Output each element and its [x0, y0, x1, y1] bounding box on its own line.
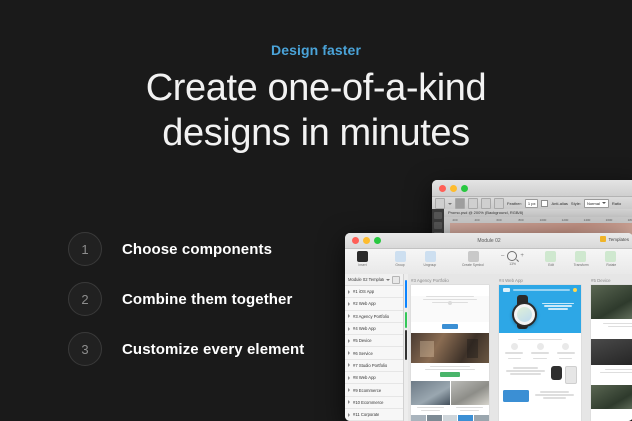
- artboard-photo: [591, 285, 632, 319]
- artboard-canvas[interactable]: [499, 285, 581, 421]
- layer-name: #7 Studio Portfolio: [353, 363, 387, 368]
- ungroup-label: Ungroup: [424, 263, 437, 267]
- text-line: [506, 370, 544, 371]
- group-label: Group: [395, 263, 404, 267]
- sketch-titlebar[interactable]: Module 02 Templates: [345, 233, 632, 249]
- artboard-4[interactable]: #4 Web App: [499, 278, 581, 421]
- subtract-selection-icon[interactable]: [481, 198, 491, 209]
- page-title: Create one-of-a-kind designs in minutes: [0, 66, 632, 156]
- strip-cell: [443, 415, 458, 421]
- artboard-hero: [499, 285, 581, 333]
- ruler-tick: 1800: [620, 218, 632, 222]
- text-line: [510, 373, 542, 374]
- ruler-tick: 1000: [532, 218, 554, 222]
- chevron-right-icon[interactable]: [348, 314, 350, 318]
- feature-column: [554, 343, 577, 361]
- edit-icon: [545, 251, 556, 262]
- sketch-window[interactable]: Module 02 Templates Insert Group: [345, 233, 632, 421]
- create-symbol-icon: [468, 251, 479, 262]
- eyebrow-text: Design faster: [0, 42, 632, 58]
- create-symbol-button[interactable]: Create Symbol: [456, 251, 490, 267]
- artboard-dark-section: [591, 339, 632, 365]
- strip-cell: [427, 415, 442, 421]
- list-item[interactable]: #10 Ecommerce: [345, 397, 403, 409]
- photoshop-titlebar[interactable]: [432, 180, 632, 197]
- chevron-right-icon[interactable]: [348, 290, 350, 294]
- layer-name: #9 Ecommerce: [353, 388, 381, 393]
- list-item[interactable]: #6 Service: [345, 347, 403, 359]
- chevron-right-icon[interactable]: [348, 413, 350, 417]
- artboard-footer-strip: [411, 415, 489, 421]
- rotate-label: Rotate: [606, 263, 616, 267]
- minimize-icon[interactable]: [450, 185, 457, 192]
- logo: [503, 288, 510, 292]
- chevron-right-icon[interactable]: [348, 327, 350, 331]
- list-item[interactable]: #4 Web App: [345, 323, 403, 335]
- toolbar-group-insert[interactable]: Insert: [345, 251, 379, 267]
- ungroup-icon: [425, 251, 436, 262]
- layer-name: #5 Device: [353, 338, 372, 343]
- artboard-5[interactable]: #5 Device: [591, 278, 632, 421]
- style-select[interactable]: Normal: [584, 199, 609, 208]
- step-label: Combine them together: [122, 291, 292, 308]
- transform-label: Transform: [573, 263, 588, 267]
- chevron-down-icon[interactable]: [386, 279, 390, 281]
- canvas-scrollbar[interactable]: [404, 274, 408, 421]
- zoom-icon[interactable]: [461, 185, 468, 192]
- list-item: 2 Combine them together: [68, 274, 304, 324]
- layer-name: #2 Web App: [353, 301, 376, 306]
- templates-button[interactable]: Templates: [600, 236, 629, 242]
- feature-column: [503, 343, 526, 361]
- templates-label: Templates: [608, 237, 629, 242]
- ruler-tick: 1200: [554, 218, 576, 222]
- scrollbar-thumb-blue[interactable]: [405, 280, 407, 308]
- grid-cell: [451, 381, 490, 415]
- insert-button[interactable]: Insert: [350, 251, 374, 267]
- layer-name: #6 Service: [353, 351, 373, 356]
- page-selector[interactable]: Module 02 Templates: [345, 274, 403, 286]
- artboard-3[interactable]: #3 Agency Portfolio: [411, 278, 489, 421]
- artboard-canvas[interactable]: [591, 285, 632, 421]
- step-number-badge: 1: [68, 232, 102, 266]
- edit-button[interactable]: Edit: [539, 251, 563, 267]
- text-line: [417, 407, 444, 408]
- headphones-image: [551, 366, 562, 380]
- edit-label: Edit: [548, 263, 554, 267]
- sketch-canvas[interactable]: #3 Agency Portfolio: [404, 274, 632, 421]
- text-line: [533, 358, 547, 359]
- feature-column: [529, 343, 552, 361]
- artboard-product-row: [499, 363, 581, 387]
- layers-sidebar[interactable]: Module 02 Templates #1 iOS App #2 Web Ap…: [345, 274, 404, 421]
- style-label: Style:: [571, 201, 581, 206]
- text-line: [608, 326, 632, 327]
- grid-meta: [411, 405, 450, 415]
- page-selector-label: Module 02 Templates: [348, 277, 384, 282]
- artboard-section: [591, 323, 632, 339]
- zoom-level-label: 13%: [509, 262, 516, 266]
- text-line: [603, 323, 632, 324]
- text-line: [559, 358, 573, 359]
- add-page-button[interactable]: [392, 276, 400, 284]
- chevron-right-icon[interactable]: [348, 376, 350, 380]
- artboard-title: #5 Device: [591, 278, 632, 283]
- layer-name: #11 Corporate: [353, 412, 379, 417]
- feature-icon: [562, 343, 569, 350]
- layer-name: #3 Agency Portfolio: [353, 314, 389, 319]
- ruler-tick: 1600: [598, 218, 620, 222]
- text-line: [605, 369, 632, 370]
- text-line: [543, 397, 566, 398]
- artboard-canvas[interactable]: [411, 285, 489, 421]
- text-line: [460, 410, 479, 411]
- transform-button[interactable]: Transform: [569, 251, 593, 267]
- step-label: Choose components: [122, 241, 272, 258]
- artboard-title: #4 Web App: [499, 278, 581, 283]
- feather-field[interactable]: 1 px: [525, 199, 539, 208]
- text-line: [531, 352, 549, 353]
- chevron-right-icon[interactable]: [348, 363, 350, 367]
- rotate-icon: [605, 251, 616, 262]
- card-image: [503, 390, 529, 402]
- artboard-photo: [591, 385, 632, 409]
- chevron-right-icon[interactable]: [348, 388, 350, 392]
- text-line: [544, 305, 571, 306]
- layer-name: #8 Web App: [353, 375, 376, 380]
- text-line: [600, 372, 632, 373]
- text-line: [456, 407, 483, 408]
- list-item[interactable]: #5 Device: [345, 335, 403, 347]
- insert-label: Insert: [358, 263, 366, 267]
- hero-text-block: [540, 301, 576, 311]
- insert-icon: [357, 251, 368, 262]
- watch-face: [517, 307, 532, 322]
- sketch-document-title: Module 02: [345, 238, 632, 244]
- artboard-features: [499, 333, 581, 363]
- ruler-tick: 200: [444, 218, 466, 222]
- lower-copy: [532, 390, 577, 402]
- ruler-tick: 600: [488, 218, 510, 222]
- text-line: [423, 299, 478, 300]
- layer-name: #4 Web App: [353, 326, 376, 331]
- step-number-badge: 3: [68, 332, 102, 366]
- text-line: [430, 366, 471, 367]
- list-item[interactable]: #2 Web App: [345, 298, 403, 310]
- artboard-hero: [411, 296, 489, 322]
- feather-label: Feather:: [507, 201, 522, 206]
- grid-image: [411, 381, 450, 405]
- ruler-tick: 1400: [576, 218, 598, 222]
- text-line: [421, 410, 440, 411]
- strip-cell: [474, 415, 489, 421]
- list-item[interactable]: #11 Corporate: [345, 409, 403, 421]
- list-item[interactable]: #9 Ecommerce: [345, 384, 403, 396]
- text-line: [540, 391, 569, 392]
- text-line: [505, 352, 523, 353]
- list-item[interactable]: #8 Web App: [345, 372, 403, 384]
- list-item: 1 Choose components: [68, 224, 304, 274]
- ruler-tick: 800: [510, 218, 532, 222]
- transform-icon: [575, 251, 586, 262]
- zoom-control[interactable]: – + 13%: [495, 251, 530, 266]
- layer-list[interactable]: #1 iOS App #2 Web App #3 Agency Portfoli…: [345, 286, 403, 421]
- grid-cell: [411, 381, 450, 415]
- lasso-tool-icon[interactable]: [434, 222, 442, 229]
- artboard-lower-row: [499, 387, 581, 405]
- artboard-photo: [411, 333, 489, 363]
- artboard-title: #3 Agency Portfolio: [411, 278, 489, 283]
- chevron-right-icon[interactable]: [348, 351, 350, 355]
- headline-line-2: designs in minutes: [0, 111, 632, 156]
- product-copy: [503, 366, 548, 376]
- antialias-label: Anti-alias: [551, 201, 567, 206]
- rotate-button[interactable]: Rotate: [599, 251, 623, 267]
- toolbar-group-symbol[interactable]: Create Symbol: [451, 251, 495, 267]
- nav-links: [513, 289, 570, 291]
- list-item[interactable]: #7 Studio Portfolio: [345, 360, 403, 372]
- move-tool-icon[interactable]: [434, 212, 442, 219]
- steps-list: 1 Choose components 2 Combine them toget…: [68, 224, 304, 374]
- strip-cell: [458, 415, 473, 421]
- artboard-grid: [411, 381, 489, 415]
- ungroup-button[interactable]: Ungroup: [418, 251, 442, 267]
- layer-name: #1 iOS App: [353, 289, 374, 294]
- magnifier-icon[interactable]: [507, 251, 517, 261]
- zoom-out-button[interactable]: –: [501, 253, 504, 259]
- watch-case: [512, 302, 537, 327]
- toolbar-group-arrange[interactable]: Group Ungroup: [383, 251, 447, 267]
- star-icon: [600, 236, 606, 242]
- artboard-caption: [411, 363, 489, 381]
- ratio-label: Ratio: [612, 201, 621, 206]
- step-label: Customize every element: [122, 341, 304, 358]
- text-line: [535, 394, 573, 395]
- feature-icon: [537, 343, 544, 350]
- grid-image: [451, 381, 490, 405]
- secondary-button[interactable]: [440, 372, 460, 377]
- nav-badge: [573, 288, 577, 292]
- text-line: [548, 308, 569, 309]
- group-icon: [395, 251, 406, 262]
- chevron-right-icon[interactable]: [348, 339, 350, 343]
- layer-name: #10 Ecommerce: [353, 400, 384, 405]
- new-selection-icon[interactable]: [455, 198, 465, 209]
- antialias-checkbox[interactable]: [541, 200, 548, 207]
- strip-cell: [411, 415, 426, 421]
- text-line: [513, 367, 538, 368]
- marquee-tool-icon[interactable]: [435, 198, 445, 209]
- list-item: 3 Customize every element: [68, 324, 304, 374]
- close-icon[interactable]: [439, 185, 446, 192]
- chevron-right-icon[interactable]: [348, 400, 350, 404]
- decorative-dot: [448, 301, 452, 305]
- text-line: [508, 358, 522, 359]
- sketch-main: Module 02 Templates #1 iOS App #2 Web Ap…: [345, 274, 632, 421]
- chevron-right-icon[interactable]: [348, 302, 350, 306]
- create-symbol-label: Create Symbol: [462, 263, 484, 267]
- scrollbar-thumb-green[interactable]: [405, 312, 407, 328]
- ruler-tick: 400: [466, 218, 488, 222]
- promo-slide: Design faster Create one-of-a-kind desig…: [0, 0, 632, 421]
- text-line: [542, 303, 574, 304]
- step-number-badge: 2: [68, 282, 102, 316]
- toolbar-group-edit[interactable]: Edit Transform Rotate Flatten: [534, 251, 632, 267]
- text-line: [518, 339, 562, 340]
- feature-icon: [511, 343, 518, 350]
- phone-image: [565, 366, 577, 384]
- chevron-down-icon[interactable]: [448, 203, 452, 205]
- zoom-in-button[interactable]: +: [520, 253, 524, 259]
- text-line: [557, 352, 575, 353]
- group-button[interactable]: Group: [388, 251, 412, 267]
- list-item[interactable]: #3 Agency Portfolio: [345, 311, 403, 323]
- text-line: [426, 296, 474, 297]
- intersect-selection-icon[interactable]: [494, 198, 504, 209]
- headline-line-1: Create one-of-a-kind: [146, 67, 487, 109]
- artboard-nav: [503, 288, 577, 292]
- add-selection-icon[interactable]: [468, 198, 478, 209]
- text-line: [425, 369, 475, 370]
- scrollbar-thumb-dark[interactable]: [405, 330, 407, 360]
- artboard-section: [591, 369, 632, 385]
- list-item[interactable]: #1 iOS App: [345, 286, 403, 298]
- feature-columns: [503, 343, 577, 361]
- grid-meta: [451, 405, 490, 415]
